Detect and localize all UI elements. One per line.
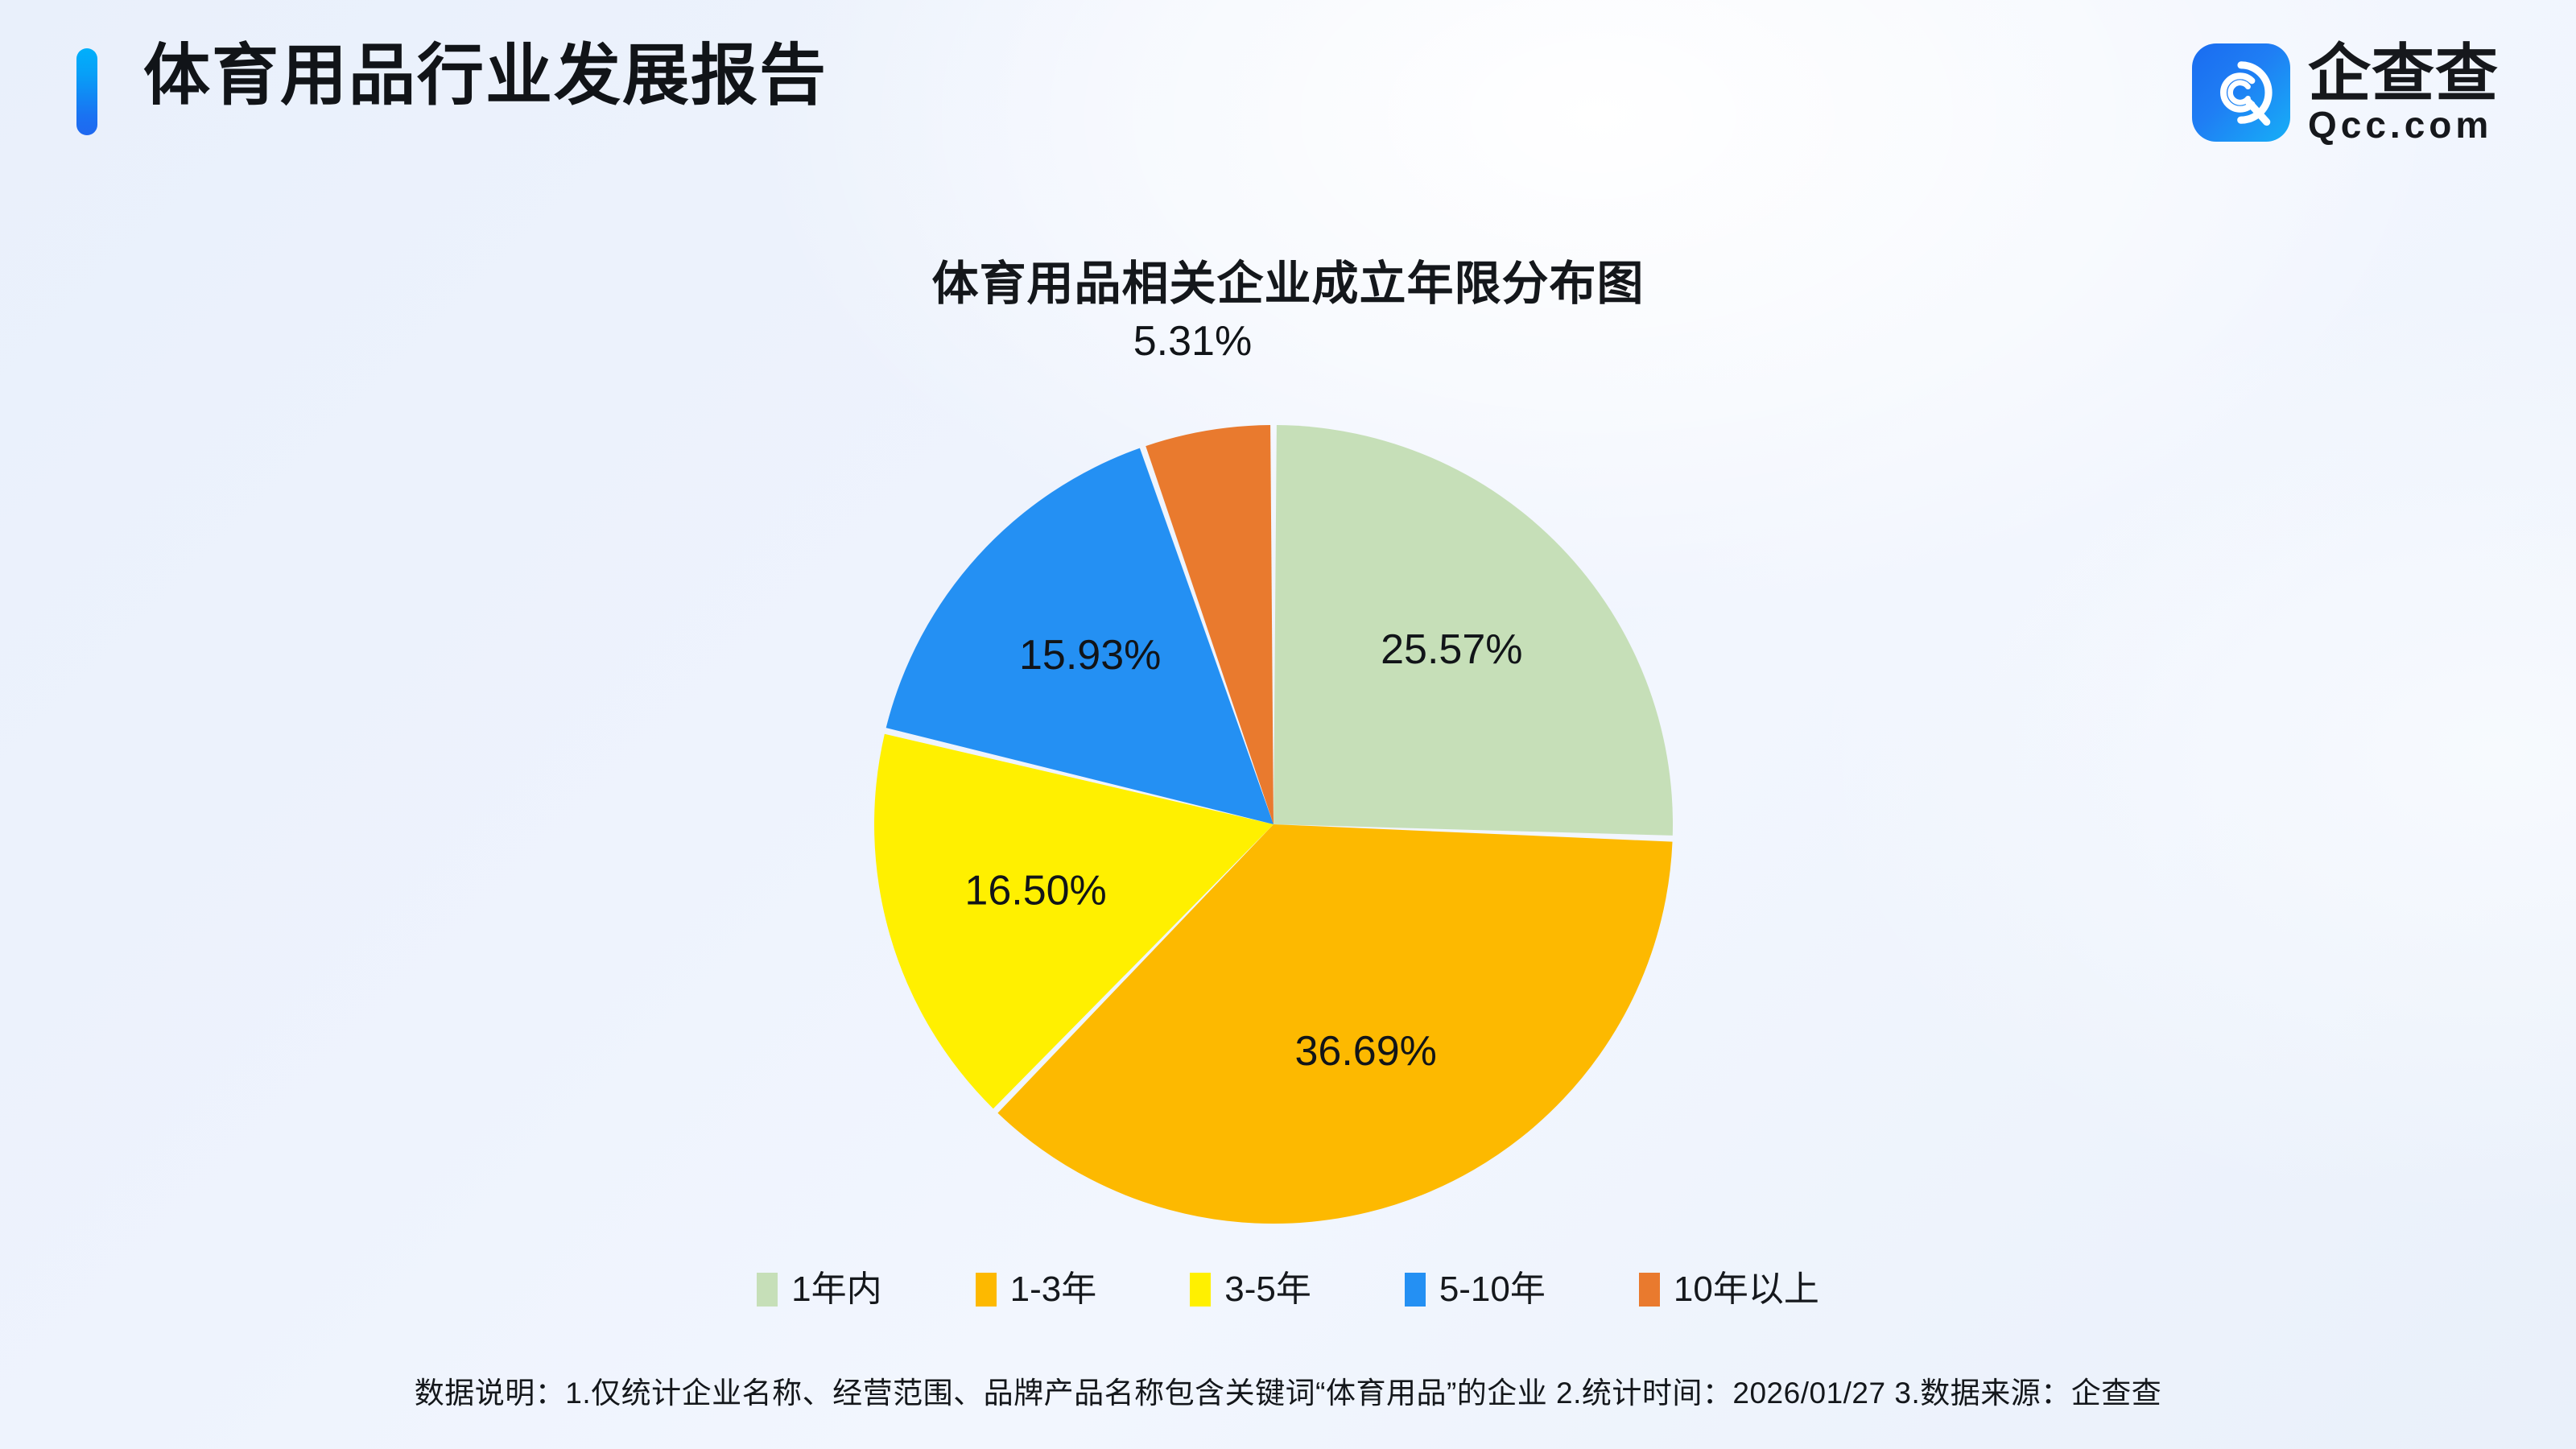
- brand-logo: 企查查 Qcc.com: [2192, 42, 2499, 143]
- pie-slice-value-label: 5.31%: [1133, 318, 1252, 365]
- legend-swatch-icon: [976, 1273, 997, 1307]
- legend-swatch-icon: [1639, 1273, 1660, 1307]
- legend-item[interactable]: 5-10年: [1405, 1272, 1546, 1307]
- legend-item[interactable]: 3-5年: [1190, 1272, 1311, 1307]
- qcc-at-q-logo-icon: [2192, 43, 2290, 142]
- legend-item[interactable]: 10年以上: [1639, 1272, 1819, 1307]
- legend-swatch-icon: [1190, 1273, 1211, 1307]
- legend-item-label: 5-10年: [1439, 1272, 1546, 1307]
- legend-item-label: 1-3年: [1010, 1272, 1097, 1307]
- brand-text: 企查查 Qcc.com: [2308, 42, 2499, 143]
- legend-item-label: 3-5年: [1224, 1272, 1311, 1307]
- pie-chart-svg: 25.57%36.69%16.50%15.93%5.31%: [874, 425, 1673, 1224]
- legend-swatch-icon: [757, 1273, 778, 1307]
- page-title: 体育用品行业发展报告: [143, 34, 828, 118]
- legend-item[interactable]: 1-3年: [976, 1272, 1097, 1307]
- pie-slice-value-label: 16.50%: [964, 867, 1106, 914]
- pie-slice-group: [874, 425, 1673, 1224]
- footnote: 数据说明：1.仅统计企业名称、经营范围、品牌产品名称包含关键词“体育用品”的企业…: [0, 1368, 2576, 1412]
- brand-name: 企查查: [2308, 42, 2499, 105]
- title-accent-bar: [76, 48, 97, 135]
- chart-title: 体育用品相关企业成立年限分布图: [0, 246, 2576, 313]
- pie-slice-value-label: 15.93%: [1019, 632, 1161, 679]
- report-page: 体育用品行业发展报告 企查查 Qcc.com 体育用品相关企业成立年限分布图: [0, 0, 2576, 1449]
- brand-domain: Qcc.com: [2308, 106, 2492, 143]
- pie-slice-value-label: 25.57%: [1381, 626, 1522, 673]
- page-header: 体育用品行业发展报告 企查查 Qcc.com: [0, 0, 2576, 201]
- chart-legend: 1年内1-3年3-5年5-10年10年以上: [0, 1272, 2576, 1307]
- legend-item-label: 10年以上: [1674, 1272, 1819, 1307]
- legend-item[interactable]: 1年内: [757, 1272, 881, 1307]
- legend-swatch-icon: [1405, 1273, 1426, 1307]
- pie-slice-value-label: 36.69%: [1295, 1028, 1437, 1075]
- legend-item-label: 1年内: [791, 1272, 881, 1307]
- pie-chart: 25.57%36.69%16.50%15.93%5.31%: [874, 425, 1673, 1224]
